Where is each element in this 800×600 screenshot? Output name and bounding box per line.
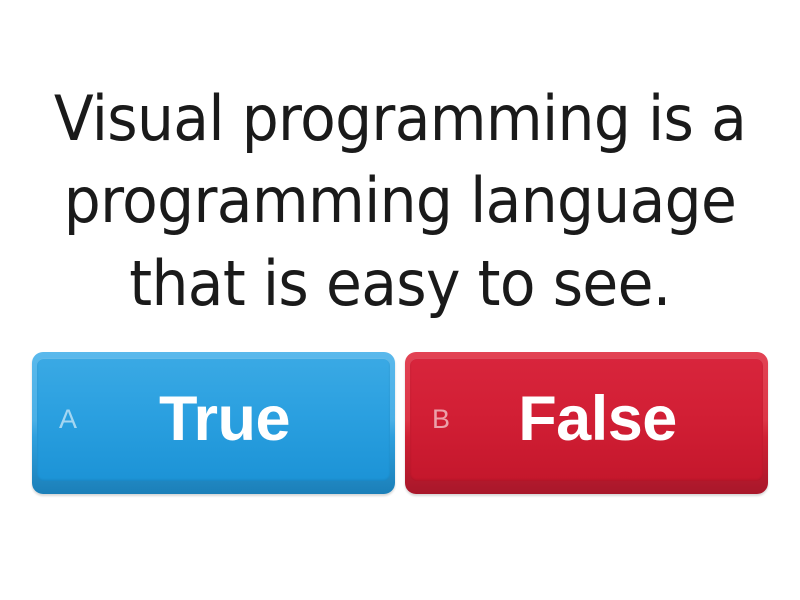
question-area: Visual programming is a programming lang… xyxy=(0,78,800,325)
answer-option-a-button[interactable]: A True xyxy=(32,352,395,494)
answer-option-b-label: False xyxy=(472,388,763,451)
answer-option-a-label: True xyxy=(99,388,390,451)
answer-option-b-face: B False xyxy=(410,358,763,481)
answer-option-b-key-badge: B xyxy=(410,406,472,433)
answer-options-row: A True B False xyxy=(32,352,768,494)
answer-option-a-face: A True xyxy=(37,358,390,481)
answer-option-a-key-badge: A xyxy=(37,406,99,433)
answer-option-b-button[interactable]: B False xyxy=(405,352,768,494)
quiz-stage: Visual programming is a programming lang… xyxy=(0,0,800,600)
question-text: Visual programming is a programming lang… xyxy=(45,78,756,325)
